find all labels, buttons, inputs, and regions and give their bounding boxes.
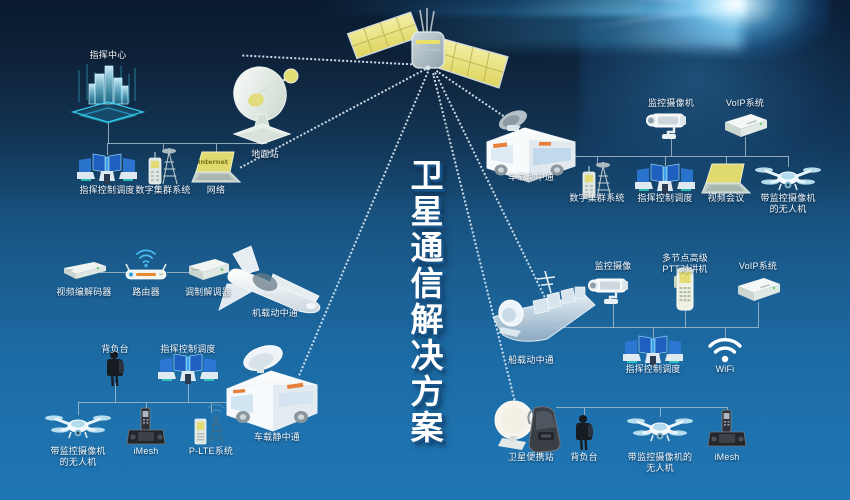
wire-tr-u2 [745, 137, 746, 157]
wire-tr-u1 [671, 137, 672, 157]
vehicle-mobile-icon [477, 108, 585, 186]
voip-box-icon [732, 276, 784, 304]
cctv-camera-icon [586, 275, 640, 305]
title-char-7: 案 [411, 410, 444, 446]
page-title: 卫星通信解决方案 [398, 158, 456, 446]
wire-br-bus [556, 407, 728, 408]
title-char-2: 通 [411, 230, 444, 266]
ptt-radio-icon [672, 268, 698, 312]
title-char-0: 卫 [411, 158, 444, 194]
video-codec-icon [60, 258, 108, 282]
command-console-icon [156, 352, 220, 386]
imesh-icon [706, 410, 748, 448]
svg-text:Internet: Internet [198, 158, 228, 166]
title-char-6: 方 [411, 374, 444, 410]
airborne-aircraft-icon [211, 240, 329, 320]
cctv-camera-icon [644, 110, 698, 140]
wire-bl-u2 [188, 383, 189, 403]
ground-station-icon [226, 62, 304, 146]
laptop-video-icon [700, 163, 752, 197]
imesh-icon [125, 408, 167, 446]
title-char-3: 信 [411, 266, 444, 302]
backpack-operator-icon [102, 350, 128, 386]
command-console-icon [75, 152, 139, 186]
title-char-4: 解 [411, 302, 444, 338]
drone-camera-icon [626, 413, 694, 447]
satellite-communication-diagram: 指挥中心 地面站 [0, 0, 850, 500]
voip-box-icon [719, 112, 771, 140]
satellite-icon [332, 4, 532, 96]
command-center-icon [65, 58, 151, 128]
wire-bl-u1 [115, 383, 116, 403]
shipborne-vessel-icon [489, 265, 601, 351]
trunking-tower-icon [577, 160, 617, 200]
command-console-icon [633, 162, 697, 196]
portable-satellite-station-icon [492, 398, 570, 454]
command-console-icon [621, 334, 685, 368]
router-icon [118, 248, 174, 286]
title-char-1: 星 [411, 194, 444, 230]
lens-flare-icon [640, 0, 830, 59]
wire-mr-u3 [758, 302, 759, 328]
backpack-operator-icon [571, 414, 597, 450]
laptop-internet-icon: Internet [190, 150, 242, 186]
wire-mr-u1 [613, 302, 614, 328]
vehicle-static-icon [213, 345, 327, 437]
trunking-tower-icon [143, 146, 183, 186]
drone-camera-icon [44, 410, 112, 444]
drone-camera-icon [754, 162, 822, 196]
wire-tr-bus [565, 156, 789, 157]
title-char-5: 决 [411, 338, 444, 374]
wifi-icon [705, 337, 745, 365]
